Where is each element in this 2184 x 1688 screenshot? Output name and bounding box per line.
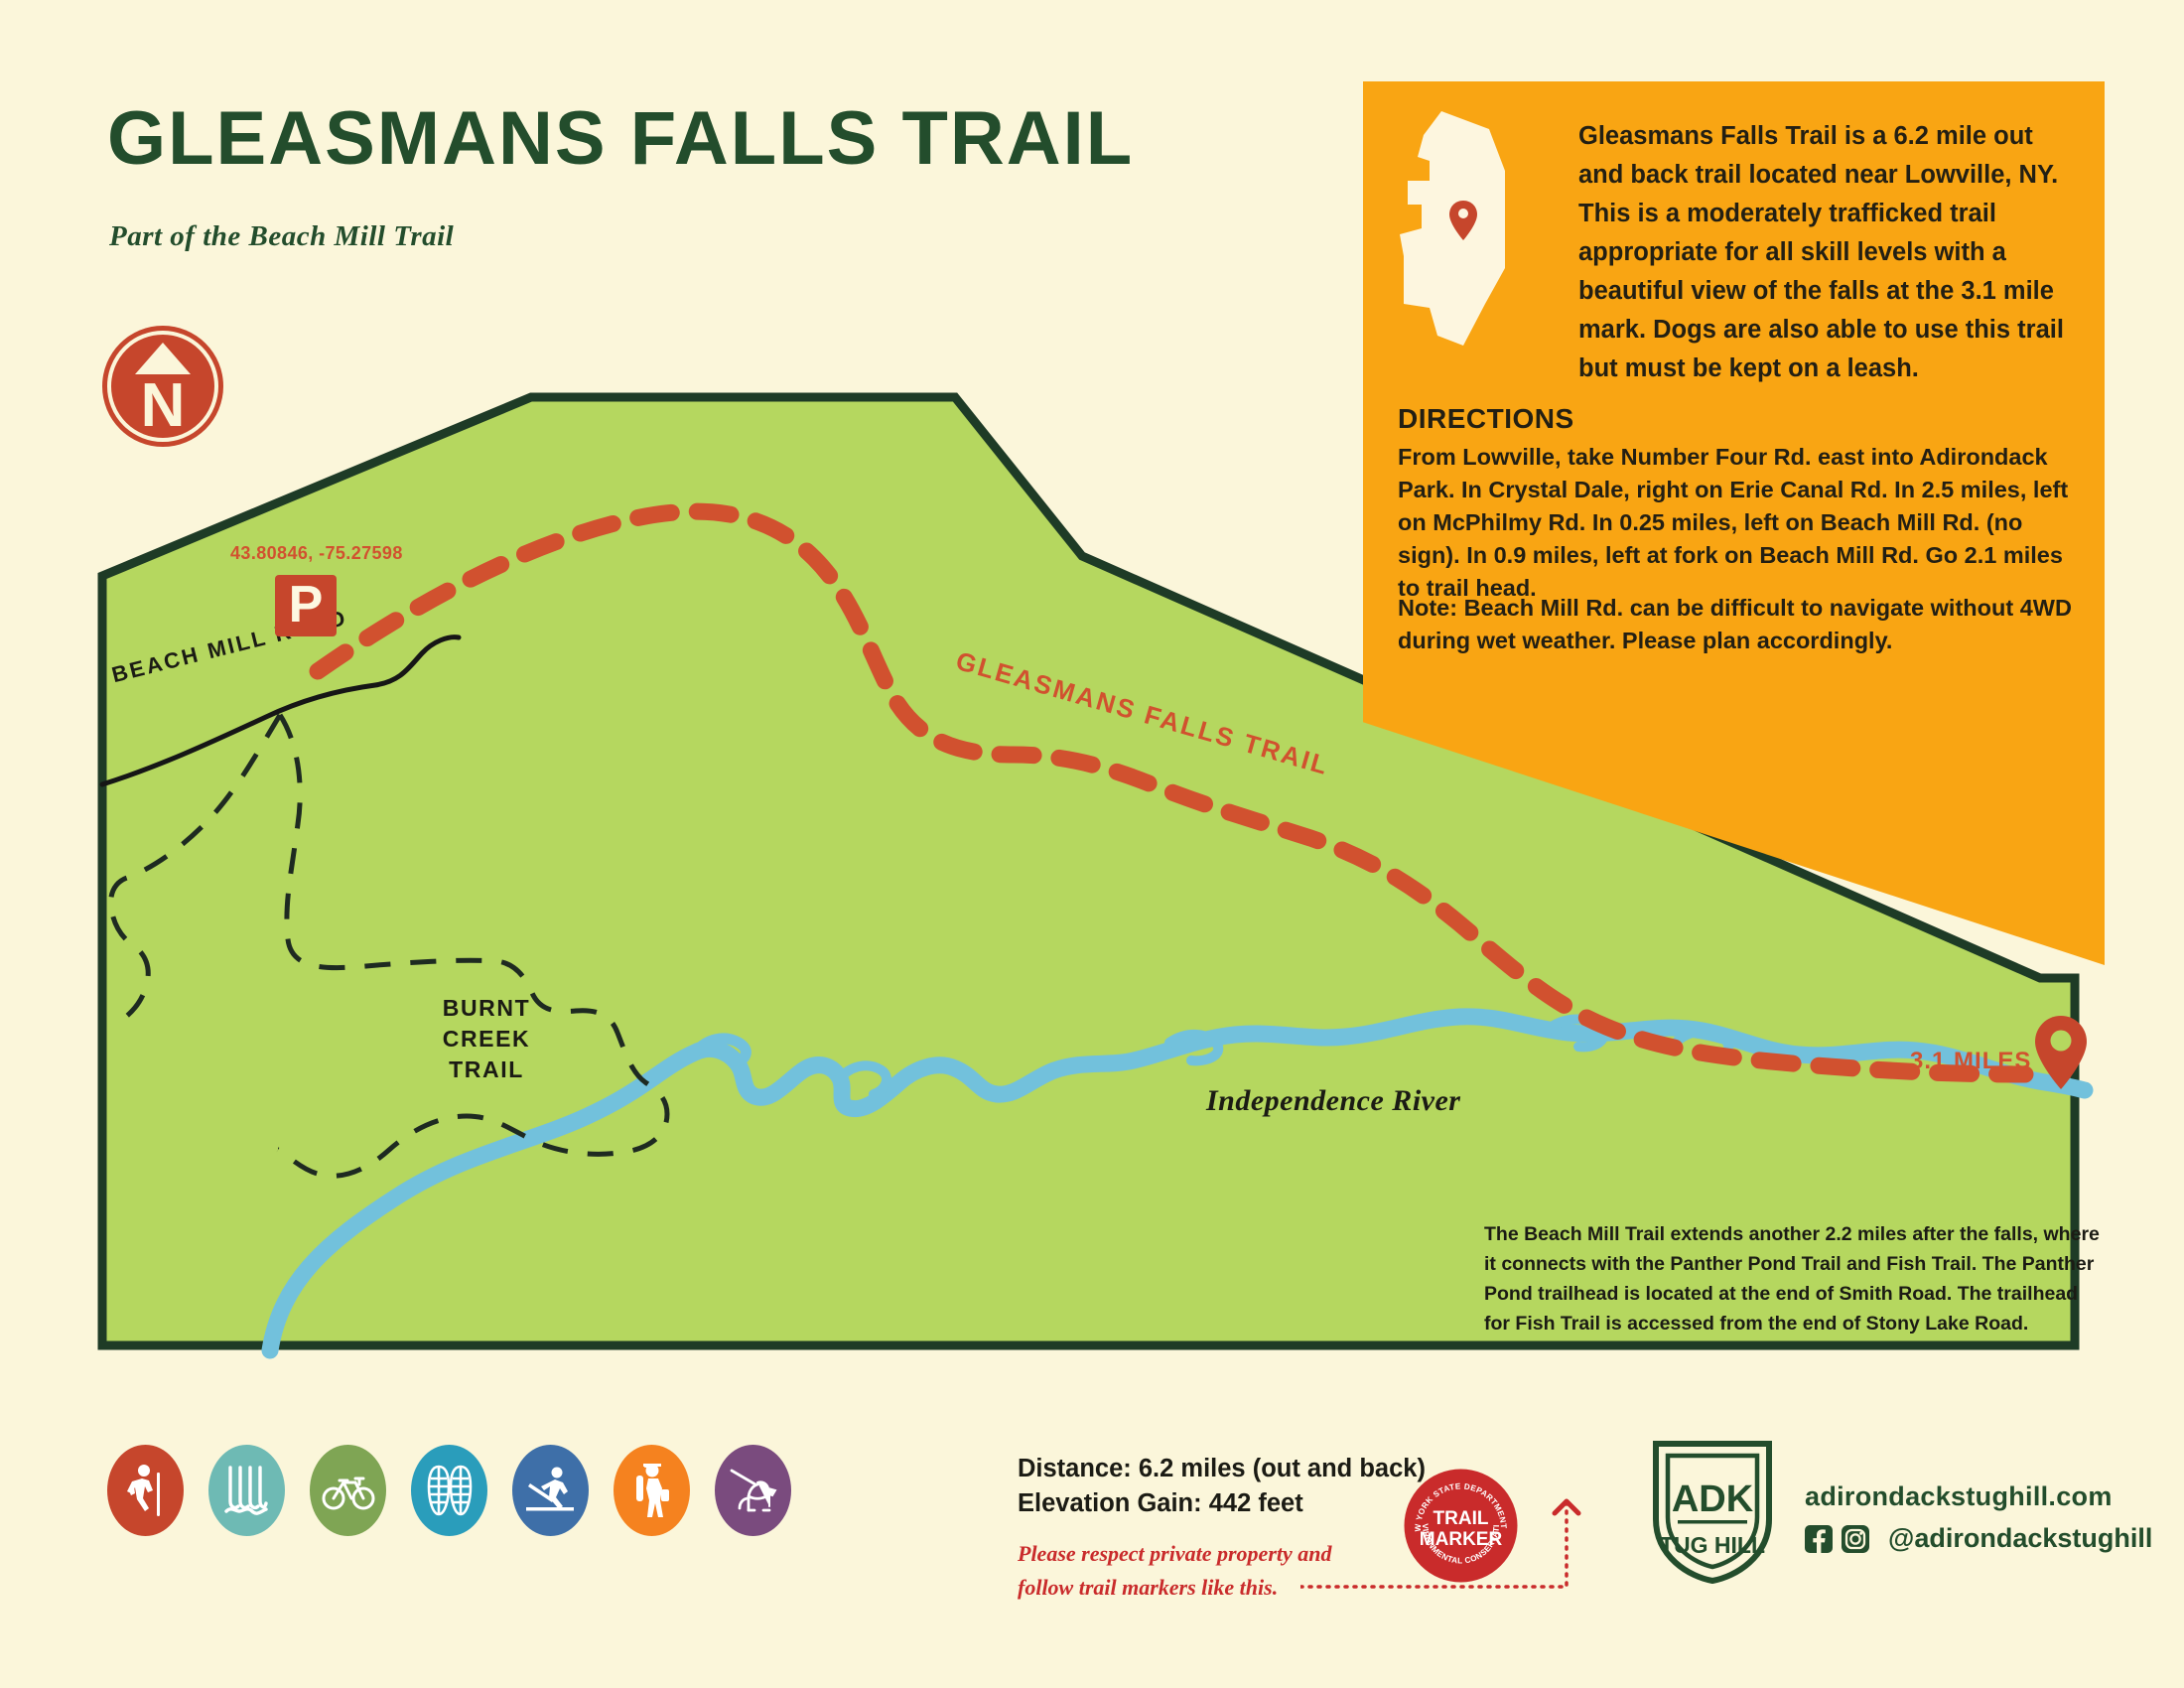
burnt-creek-line-2: CREEK	[427, 1024, 546, 1055]
directions-body: From Lowville, take Number Four Rd. east…	[1398, 441, 2083, 605]
cross-country-skiing-icon[interactable]	[512, 1445, 589, 1536]
compass-north-icon: N	[99, 323, 226, 450]
burnt-creek-line-3: TRAIL	[427, 1055, 546, 1085]
trail-stats: Distance: 6.2 miles (out and back) Eleva…	[1018, 1452, 1426, 1521]
elevation-text: Elevation Gain: 442 feet	[1018, 1486, 1426, 1521]
burnt-creek-trail-label: BURNT CREEK TRAIL	[427, 993, 546, 1085]
badge-line-1: TRAIL	[1433, 1508, 1489, 1529]
logo-line-2: TUG HILL	[1660, 1532, 1765, 1558]
directions-note: Note: Beach Mill Rd. can be difficult to…	[1398, 592, 2083, 657]
hiking-icon[interactable]	[107, 1445, 184, 1536]
badge-line-2: MARKER	[1420, 1529, 1503, 1550]
directions-note-body: Beach Mill Rd. can be difficult to navig…	[1398, 595, 2072, 653]
distance-text: Distance: 6.2 miles (out and back)	[1018, 1452, 1426, 1486]
activity-icon-row	[107, 1445, 791, 1536]
instagram-icon[interactable]	[1842, 1525, 1869, 1553]
svg-text:N: N	[141, 371, 186, 440]
falls-distance-label: 3.1 MILES	[1910, 1048, 2031, 1075]
trailhead-coordinates: 43.80846, -75.27598	[230, 543, 403, 564]
adk-tug-hill-logo: ADK TUG HILL	[1648, 1438, 1777, 1587]
dog-on-leash-icon[interactable]	[715, 1445, 791, 1536]
respect-line-1: Please respect private property and	[1018, 1537, 1365, 1571]
page-title: GLEASMANS FALLS TRAIL	[107, 95, 1134, 182]
waterfall-icon[interactable]	[208, 1445, 285, 1536]
social-handle[interactable]: @adirondackstughill	[1888, 1523, 2152, 1554]
website-link[interactable]: adirondackstughill.com	[1805, 1481, 2152, 1512]
contact-block: adirondackstughill.com @adirondackstughi…	[1805, 1481, 2152, 1554]
backpacking-icon[interactable]	[614, 1445, 690, 1536]
independence-river-label: Independence River	[1206, 1084, 1460, 1118]
page-subtitle: Part of the Beach Mill Trail	[109, 220, 454, 253]
trail-marker-badge: NEW YORK STATE DEPARTMENT OF ENVIRONMENT…	[1403, 1468, 1519, 1584]
respect-line-2: follow trail markers like this.	[1018, 1571, 1365, 1605]
map-pin-icon	[2035, 1016, 2087, 1089]
directions-note-label: Note:	[1398, 595, 1457, 621]
facebook-icon[interactable]	[1805, 1525, 1833, 1553]
directions-heading: DIRECTIONS	[1398, 403, 1574, 435]
parking-icon: P	[275, 575, 337, 636]
biking-icon[interactable]	[310, 1445, 386, 1536]
respect-notice: Please respect private property and foll…	[1018, 1537, 1365, 1605]
trail-intro-text: Gleasmans Falls Trail is a 6.2 mile out …	[1578, 117, 2080, 388]
map-extension-note: The Beach Mill Trail extends another 2.2…	[1484, 1219, 2100, 1338]
burnt-creek-line-1: BURNT	[427, 993, 546, 1024]
snowshoeing-icon[interactable]	[411, 1445, 487, 1536]
county-outline-icon	[1398, 109, 1547, 348]
logo-line-1: ADK	[1672, 1478, 1754, 1520]
social-row: @adirondackstughill	[1805, 1523, 2152, 1554]
